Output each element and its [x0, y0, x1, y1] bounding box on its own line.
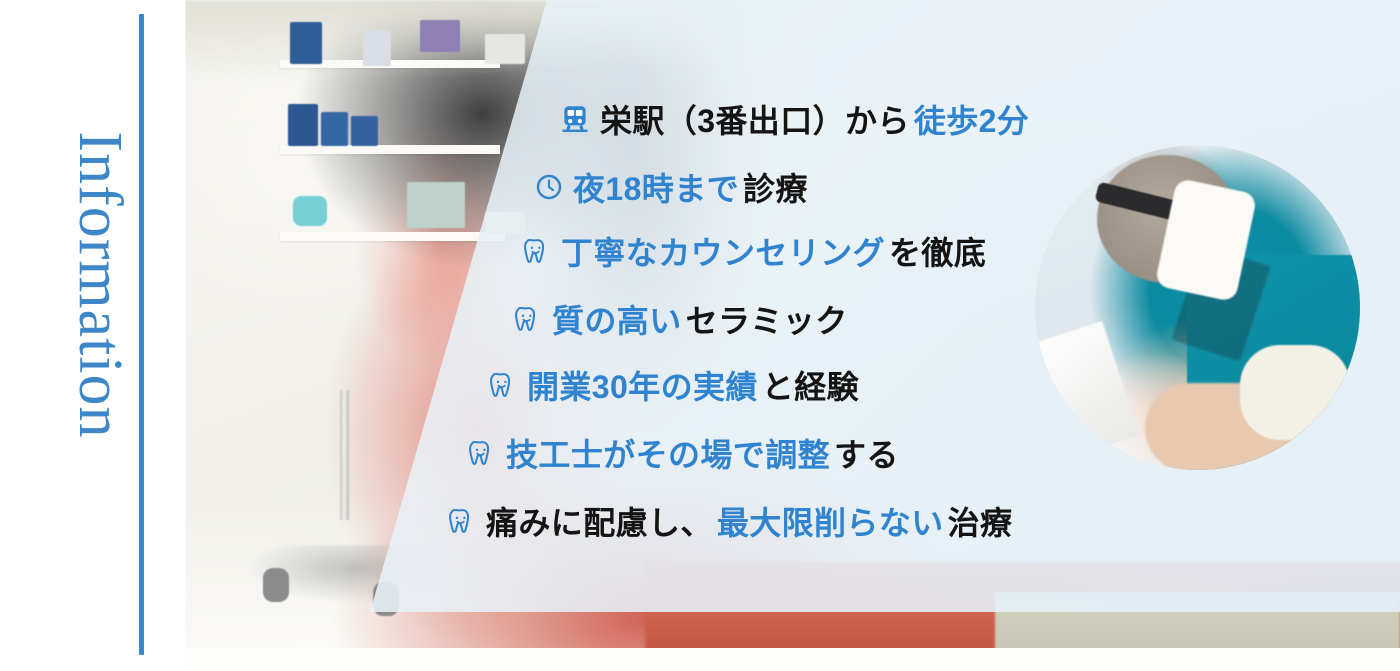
tooth-icon — [444, 504, 478, 538]
info-row: 丁寧なカウンセリング を徹底 — [519, 228, 988, 274]
train-icon — [558, 102, 592, 136]
info-list: 栄駅（3番出口）から 徒歩2分 夜18時まで 診療 — [185, 0, 1400, 671]
info-text-segment-emphasis: 丁寧なカウンセリング — [559, 228, 887, 274]
info-text-segment: 診療 — [741, 164, 810, 210]
info-text-segment: 痛みに配慮し、 — [484, 498, 715, 544]
tooth-icon — [519, 234, 553, 268]
info-row: 栄駅（3番出口）から 徒歩2分 — [558, 96, 1031, 142]
info-text-segment-emphasis: 徒歩2分 — [912, 96, 1031, 142]
tooth-icon — [485, 368, 519, 402]
information-banner: Information — [0, 0, 1400, 671]
info-text-segment-emphasis: 最大限削らない — [715, 498, 946, 544]
info-row: 開業30年の実績 と経験 — [485, 362, 861, 408]
info-text-segment: する — [832, 430, 901, 476]
info-text-segment: セラミック — [684, 296, 850, 342]
info-text-segment-emphasis: 夜18時まで — [571, 164, 741, 210]
tooth-icon — [510, 302, 544, 336]
info-text-segment: 治療 — [946, 498, 1015, 544]
info-row: 痛みに配慮し、 最大限削らない 治療 — [444, 498, 1014, 544]
info-row: 技工士がその場で調整 する — [464, 430, 901, 476]
clock-icon — [533, 171, 565, 203]
info-text-segment: 栄駅（3番出口）から — [598, 96, 912, 142]
info-text-segment: と経験 — [760, 362, 861, 408]
info-text-segment: を徹底 — [887, 228, 988, 274]
info-text-segment-emphasis: 質の高い — [550, 296, 684, 342]
clinic-photo: 栄駅（3番出口）から 徒歩2分 夜18時まで 診療 — [185, 0, 1400, 671]
info-row: 質の高い セラミック — [510, 296, 850, 342]
info-text-segment-emphasis: 技工士がその場で調整 — [504, 430, 832, 476]
tooth-icon — [464, 436, 498, 470]
side-heading-text: Information — [55, 75, 145, 495]
info-text-segment-emphasis: 開業30年の実績 — [525, 362, 760, 408]
info-row: 夜18時まで 診療 — [533, 164, 810, 210]
side-heading: Information — [0, 0, 185, 671]
